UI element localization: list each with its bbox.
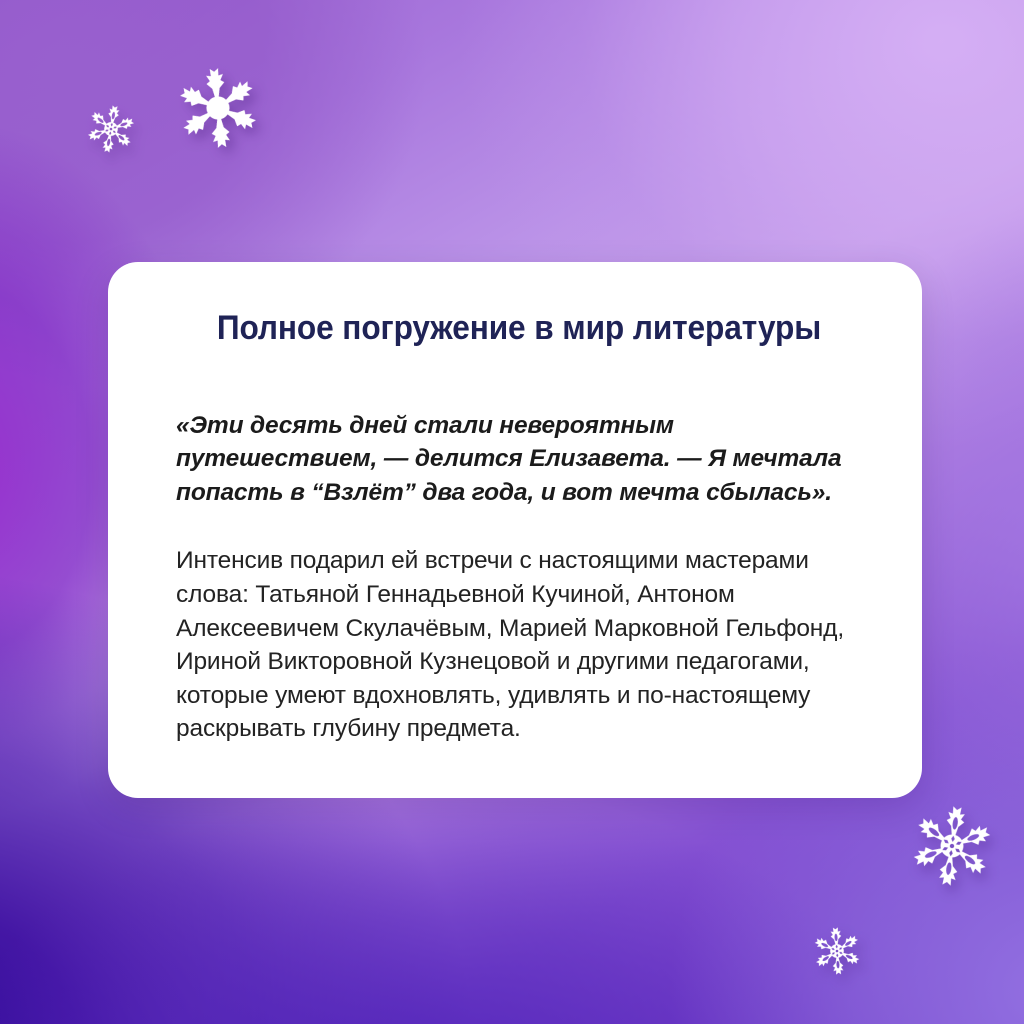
snowflake-icon: [893, 787, 1010, 904]
snowflake-icon: [75, 93, 147, 165]
poster-canvas: Полное погружение в мир литературы «Эти …: [0, 0, 1024, 1024]
body-paragraph: Интенсив подарил ей встречи с настоящими…: [176, 544, 862, 745]
testimonial-quote: «Эти десять дней стали невероятным путеш…: [176, 409, 862, 510]
content-card: Полное погружение в мир литературы «Эти …: [108, 262, 922, 798]
snowflake-icon: [804, 918, 870, 984]
snowflake-icon: [161, 51, 275, 165]
page-title: Полное погружение в мир литературы: [200, 308, 838, 349]
